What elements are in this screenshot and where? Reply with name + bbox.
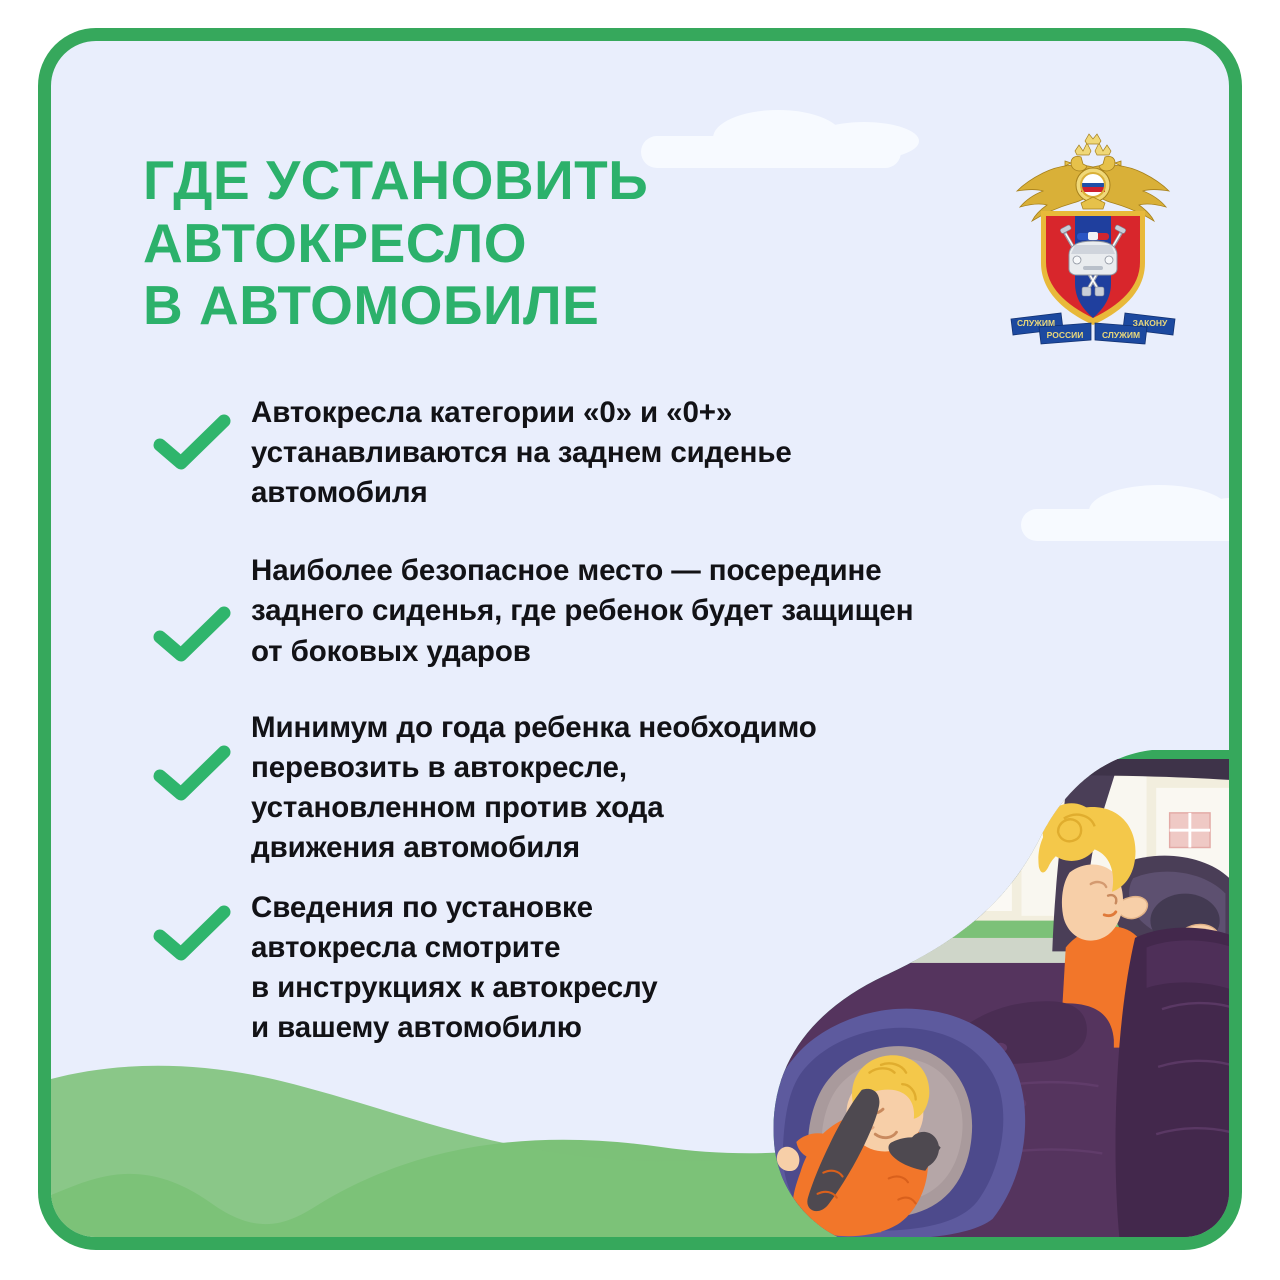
check-icon [152, 904, 232, 962]
check-icon [152, 605, 232, 663]
svg-text:СЛУЖИМ: СЛУЖИМ [1102, 330, 1140, 340]
check-icon [152, 413, 232, 471]
title-line-3: В АВТОМОБИЛЕ [143, 274, 763, 337]
check-icon-wrap [133, 886, 251, 962]
poster-root: ГДЕ УСТАНОВИТЬ АВТОКРЕСЛО В АВТОМОБИЛЕ [0, 0, 1280, 1280]
list-item: Наиболее безопасное место — посередине з… [133, 549, 1143, 671]
list-item-text: Автокресла категории «0» и «0+» устанавл… [251, 391, 1143, 513]
poster-card: ГДЕ УСТАНОВИТЬ АВТОКРЕСЛО В АВТОМОБИЛЕ [38, 28, 1242, 1250]
title-line-2: АВТОКРЕСЛО [143, 212, 763, 275]
baby-car-seat [772, 1009, 1025, 1240]
svg-text:РОССИИ: РОССИИ [1047, 330, 1084, 340]
car-interior-illustration [772, 750, 1242, 1250]
gibdd-emblem-icon: СЛУЖИМ ЗАКОНУ РОССИИ СЛУЖИМ [1003, 133, 1183, 353]
check-icon [152, 744, 232, 802]
title-line-1: ГДЕ УСТАНОВИТЬ [143, 149, 763, 212]
check-icon-wrap [133, 549, 251, 663]
check-icon-wrap [133, 706, 251, 802]
page-title: ГДЕ УСТАНОВИТЬ АВТОКРЕСЛО В АВТОМОБИЛЕ [143, 149, 763, 337]
list-item: Автокресла категории «0» и «0+» устанавл… [133, 391, 1143, 513]
svg-text:ЗАКОНУ: ЗАКОНУ [1133, 318, 1168, 328]
check-icon-wrap [133, 391, 251, 471]
svg-text:СЛУЖИМ: СЛУЖИМ [1017, 318, 1055, 328]
list-item-text: Наиболее безопасное место — посередине з… [251, 549, 1143, 671]
